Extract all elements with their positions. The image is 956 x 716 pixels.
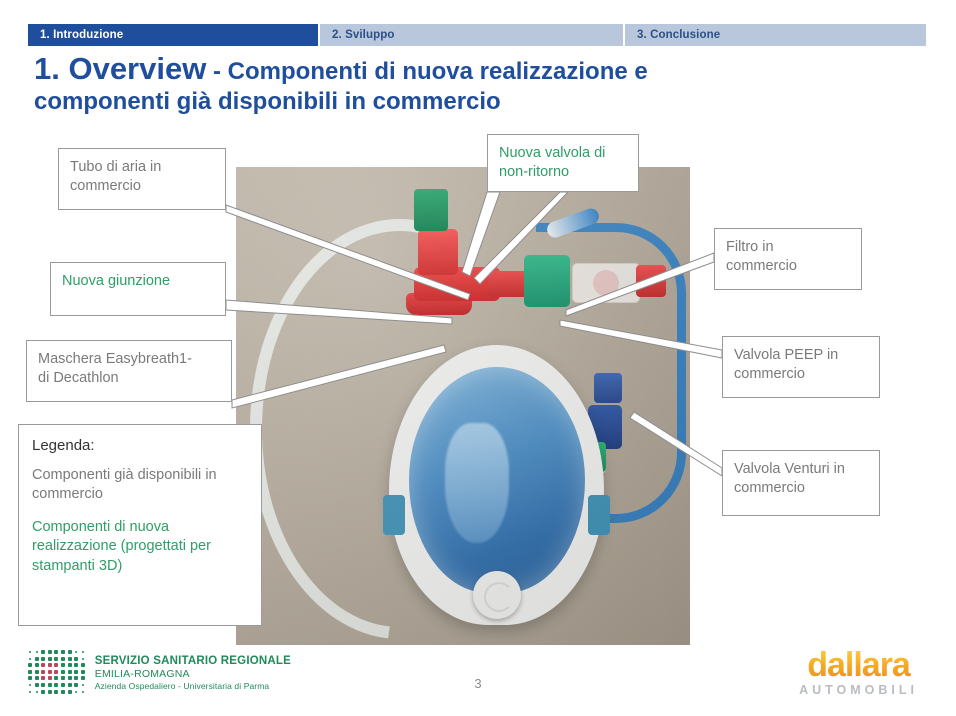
- logo-dot: [54, 650, 58, 654]
- callout-line-2: commercio: [734, 479, 868, 498]
- logo-dot: [61, 650, 65, 654]
- legend-line-1: Componenti di nuova: [32, 519, 169, 535]
- callout-maschera-easybreath[interactable]: Maschera Easybreath1- di Decathlon: [26, 340, 232, 402]
- logo-dot: [48, 650, 52, 654]
- page-title-rest: Componenti di nuova realizzazione e: [228, 58, 648, 85]
- logo-dot: [54, 670, 58, 674]
- logo-dot: [61, 663, 65, 667]
- logo-dot: [41, 670, 45, 674]
- callout-line-2: commercio: [70, 177, 214, 196]
- section-navigation: 1. Introduzione 2. Sviluppo 3. Conclusio…: [28, 24, 928, 46]
- page-title-line-2: componenti già disponibili in commercio: [34, 88, 914, 116]
- logo-dot: [54, 663, 58, 667]
- legend-box: Legenda: Componenti già disponibili in c…: [18, 424, 262, 626]
- logo-dot: [48, 663, 52, 667]
- logo-dot: [61, 670, 65, 674]
- dallara-subtitle: AUTOMOBILI: [799, 683, 918, 697]
- callout-line-1: Nuova valvola di: [499, 144, 627, 163]
- callout-line-2: di Decathlon: [38, 369, 220, 388]
- logo-dot: [81, 663, 85, 667]
- callout-valvola-peep[interactable]: Valvola PEEP in commercio: [722, 336, 880, 398]
- logo-dot: [41, 657, 45, 661]
- logo-dot: [28, 663, 32, 667]
- callout-line-2: commercio: [726, 257, 850, 276]
- callout-nuova-valvola[interactable]: Nuova valvola di non-ritorno: [487, 134, 639, 192]
- page-title-dash: -: [206, 58, 227, 85]
- logo-dot: [48, 657, 52, 661]
- logo-dot: [68, 670, 72, 674]
- callout-valvola-venturi[interactable]: Valvola Venturi in commercio: [722, 450, 880, 516]
- page-title-lead: 1. Overview: [34, 51, 206, 86]
- ssr-line-1: SERVIZIO SANITARIO REGIONALE: [95, 654, 291, 668]
- nav-tab-introduzione[interactable]: 1. Introduzione: [28, 24, 318, 46]
- logo-dot: [82, 658, 84, 660]
- logo-dot: [74, 657, 78, 661]
- legend-line-1: Componenti già disponibili: [32, 467, 201, 483]
- logo-dot: [68, 650, 72, 654]
- callout-line-1: Valvola Venturi in: [734, 460, 868, 479]
- legend-entry-nuova-realizzazione: Componenti di nuova realizzazione (proge…: [32, 518, 248, 575]
- legend-title: Legenda:: [32, 437, 248, 454]
- callout-line-1: Maschera Easybreath1-: [38, 350, 220, 369]
- logo-dot: [29, 651, 31, 653]
- logo-dot: [41, 650, 45, 654]
- legend-entry-commercio: Componenti già disponibili in commercio: [32, 466, 248, 504]
- logo-dot: [29, 658, 31, 660]
- logo-dot: [74, 670, 78, 674]
- legend-line-4: 3D): [99, 558, 122, 574]
- nav-tab-conclusione[interactable]: 3. Conclusione: [623, 24, 926, 46]
- logo-dot: [41, 663, 45, 667]
- logo-dot: [61, 657, 65, 661]
- callout-tubo-aria[interactable]: Tubo di aria in commercio: [58, 148, 226, 210]
- callout-nuova-giunzione[interactable]: Nuova giunzione: [50, 262, 226, 316]
- photo-shading-overlay: [236, 167, 690, 645]
- callout-line-1: Filtro in: [726, 238, 850, 257]
- logo-dot: [82, 651, 84, 653]
- logo-dot: [68, 657, 72, 661]
- page-title-line-1: 1. Overview - Componenti di nuova realiz…: [34, 53, 914, 86]
- nav-tab-sviluppo[interactable]: 2. Sviluppo: [318, 24, 623, 46]
- device-photo: [236, 167, 690, 645]
- logo-dot: [28, 670, 32, 674]
- callout-filtro[interactable]: Filtro in commercio: [714, 228, 862, 290]
- logo-dot: [81, 670, 85, 674]
- page-title: 1. Overview - Componenti di nuova realiz…: [34, 53, 914, 115]
- callout-line-1: Tubo di aria in: [70, 158, 214, 177]
- logo-dot: [48, 670, 52, 674]
- callout-line-1: Nuova giunzione: [62, 272, 214, 291]
- footer-logo-dallara: dallara AUTOMOBILI: [799, 648, 918, 697]
- legend-line-2: realizzazione: [32, 538, 117, 554]
- logo-dot: [68, 663, 72, 667]
- logo-dot: [35, 663, 39, 667]
- nav-tab-label: 1. Introduzione: [40, 29, 123, 41]
- callout-line-1: Valvola PEEP in: [734, 346, 868, 365]
- callout-line-2: commercio: [734, 365, 868, 384]
- nav-tab-label: 2. Sviluppo: [332, 29, 394, 41]
- nav-tab-label: 3. Conclusione: [637, 29, 720, 41]
- logo-dot: [35, 657, 39, 661]
- logo-dot: [35, 670, 39, 674]
- callout-line-2: non-ritorno: [499, 163, 627, 182]
- logo-dot: [36, 651, 38, 653]
- dallara-wordmark: dallara: [799, 648, 918, 682]
- logo-dot: [74, 663, 78, 667]
- logo-dot: [75, 651, 77, 653]
- logo-dot: [54, 657, 58, 661]
